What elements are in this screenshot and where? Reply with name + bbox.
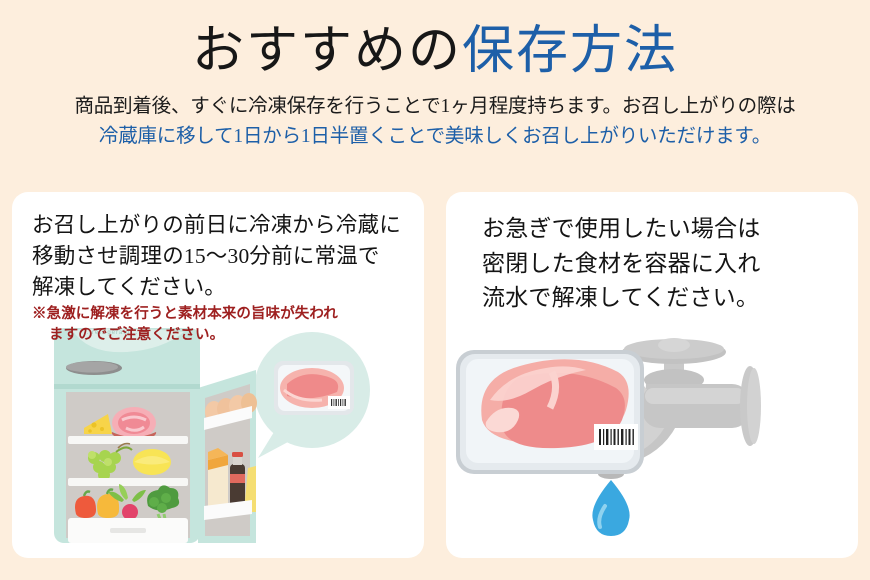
- subtitle: 商品到着後、すぐに冷凍保存を行うことで1ヶ月程度持ちます。お召し上がりの際は 冷…: [0, 82, 870, 152]
- page-title-accent: 保存方法: [462, 23, 678, 80]
- subtitle-line-1: 商品到着後、すぐに冷凍保存を行うことで1ヶ月程度持ちます。お召し上がりの際は: [0, 92, 870, 122]
- page-title-plain: おすすめの: [192, 23, 462, 80]
- card-left-line-1: お召し上がりの前日に冷凍から冷蔵に: [32, 210, 408, 241]
- fridge-open-door: [198, 370, 257, 543]
- header: おすすめの保存方法 商品到着後、すぐに冷凍保存を行うことで1ヶ月程度持ちます。お…: [0, 0, 870, 152]
- meat-tray-package-icon: [456, 350, 644, 474]
- card-left-note-line-1: ※急激に解凍を行うと素材本来の旨味が失われ: [32, 304, 408, 326]
- poster-root: おすすめの保存方法 商品到着後、すぐに冷凍保存を行うことで1ヶ月程度持ちます。お…: [0, 0, 870, 580]
- page-title: おすすめの保存方法: [0, 0, 870, 82]
- ham-icon: [112, 407, 156, 440]
- card-right-text: お急ぎで使用したい場合は 密閉した食材を容器に入れ 流水で解凍してください。: [446, 192, 858, 316]
- card-left-line-2: 移動させ調理の15〜30分前に常温で: [32, 241, 408, 272]
- card-right-line-1: お急ぎで使用したい場合は: [482, 212, 842, 247]
- lemon-icon: [133, 449, 171, 475]
- card-right-line-3: 流水で解凍してください。: [482, 281, 842, 316]
- milk-carton-icon: [208, 448, 228, 512]
- faucet-and-meat-illustration: [446, 328, 858, 558]
- subtitle-line-2: 冷蔵庫に移して1日から1日半置くことで美味しくお召し上がりいただけます。: [0, 122, 870, 152]
- card-left-note-line-2: ますのでご注意ください。: [32, 325, 408, 347]
- card-left-text: お召し上がりの前日に冷凍から冷蔵に 移動させ調理の15〜30分前に常温で 解凍し…: [12, 192, 424, 347]
- water-droplet-icon: [592, 480, 629, 536]
- card-right-line-2: 密閉した食材を容器に入れ: [482, 247, 842, 282]
- fridge-body: ...refrigerator...: [54, 328, 200, 543]
- refrigerator-illustration: ...refrigerator...: [12, 328, 424, 558]
- card-running-water-method: お急ぎで使用したい場合は 密閉した食材を容器に入れ 流水で解凍してください。: [446, 192, 858, 558]
- card-left-line-3: 解凍してください。: [32, 272, 408, 303]
- bubble-meat-tray-icon: [274, 361, 354, 415]
- card-refrigerator-method: お召し上がりの前日に冷凍から冷蔵に 移動させ調理の15〜30分前に常温で 解凍し…: [12, 192, 424, 558]
- cards-container: お召し上がりの前日に冷凍から冷蔵に 移動させ調理の15〜30分前に常温で 解凍し…: [12, 192, 858, 558]
